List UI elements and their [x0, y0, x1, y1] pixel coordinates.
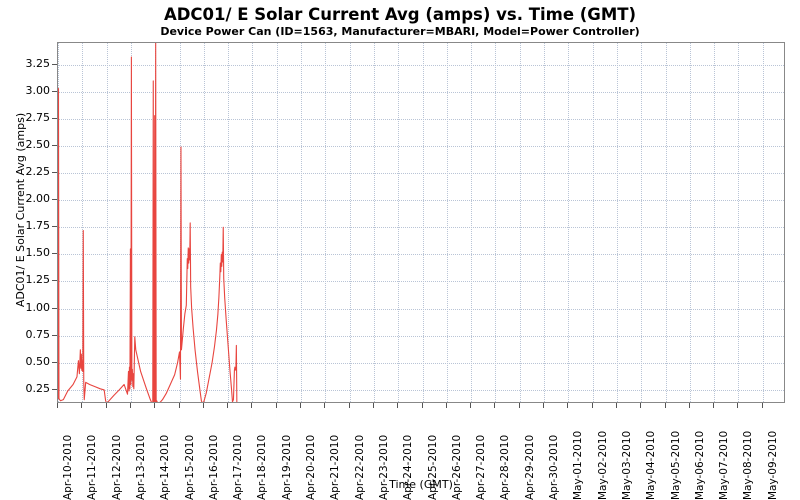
- x-tick-mark: [179, 403, 180, 408]
- x-tick-mark: [130, 403, 131, 408]
- y-tick-label: 2.00: [0, 192, 50, 205]
- x-tick-mark: [665, 403, 666, 408]
- x-tick-label: Apr-27-2010: [464, 412, 477, 500]
- x-tick-label: Apr-15-2010: [173, 412, 186, 500]
- x-tick-mark: [689, 403, 690, 408]
- x-tick-label: May-01-2010: [561, 412, 574, 500]
- x-tick-label: Apr-20-2010: [294, 412, 307, 500]
- x-tick-label: Apr-22-2010: [343, 412, 356, 500]
- x-tick-mark: [227, 403, 228, 408]
- x-tick-label: Apr-30-2010: [537, 412, 550, 500]
- x-tick-mark: [762, 403, 763, 408]
- y-tick-label: 0.75: [0, 328, 50, 341]
- x-tick-label: Apr-18-2010: [245, 412, 258, 500]
- x-tick-mark: [276, 403, 277, 408]
- x-tick-label: Apr-17-2010: [221, 412, 234, 500]
- x-tick-mark: [154, 403, 155, 408]
- x-tick-mark: [519, 403, 520, 408]
- x-tick-label: Apr-25-2010: [416, 412, 429, 500]
- x-tick-label: May-02-2010: [586, 412, 599, 500]
- x-tick-mark: [251, 403, 252, 408]
- x-tick-mark: [57, 403, 58, 408]
- x-tick-label: May-07-2010: [707, 412, 720, 500]
- x-tick-label: Apr-13-2010: [124, 412, 137, 500]
- x-tick-label: Apr-16-2010: [197, 412, 210, 500]
- x-tick-mark: [494, 403, 495, 408]
- y-tick-label: 1.25: [0, 273, 50, 286]
- x-tick-label: Apr-12-2010: [100, 412, 113, 500]
- x-tick-mark: [713, 403, 714, 408]
- x-tick-mark: [373, 403, 374, 408]
- x-tick-label: Apr-11-2010: [75, 412, 88, 500]
- x-tick-mark: [737, 403, 738, 408]
- x-tick-label: Apr-14-2010: [148, 412, 161, 500]
- x-tick-label: Apr-21-2010: [318, 412, 331, 500]
- chart-screenshot: ADC01/ E Solar Current Avg (amps) vs. Ti…: [0, 0, 800, 500]
- y-tick-label: 2.25: [0, 165, 50, 178]
- x-tick-label: May-05-2010: [659, 412, 672, 500]
- y-tick-label: 1.00: [0, 301, 50, 314]
- x-tick-mark: [640, 403, 641, 408]
- x-tick-mark: [543, 403, 544, 408]
- y-tick-label: 1.75: [0, 219, 50, 232]
- x-tick-mark: [397, 403, 398, 408]
- x-tick-label: Apr-29-2010: [513, 412, 526, 500]
- x-tick-label: May-06-2010: [683, 412, 696, 500]
- x-tick-mark: [349, 403, 350, 408]
- x-tick-mark: [422, 403, 423, 408]
- x-tick-label: Apr-28-2010: [488, 412, 501, 500]
- x-tick-label: May-03-2010: [610, 412, 623, 500]
- x-tick-mark: [203, 403, 204, 408]
- y-tick-label: 3.00: [0, 84, 50, 97]
- y-tick-label: 2.50: [0, 138, 50, 151]
- x-tick-label: Apr-23-2010: [367, 412, 380, 500]
- x-tick-mark: [616, 403, 617, 408]
- x-tick-mark: [592, 403, 593, 408]
- x-tick-mark: [300, 403, 301, 408]
- y-tick-label: 0.50: [0, 355, 50, 368]
- x-tick-mark: [324, 403, 325, 408]
- x-tick-label: May-09-2010: [756, 412, 769, 500]
- y-tick-label: 0.25: [0, 382, 50, 395]
- y-tick-label: 2.75: [0, 111, 50, 124]
- y-tick-label: 1.50: [0, 246, 50, 259]
- y-tick-label: 3.25: [0, 57, 50, 70]
- x-tick-mark: [106, 403, 107, 408]
- x-tick-mark: [81, 403, 82, 408]
- x-tick-label: Apr-10-2010: [51, 412, 64, 500]
- x-tick-mark: [446, 403, 447, 408]
- x-tick-label: Apr-26-2010: [440, 412, 453, 500]
- x-tick-mark: [567, 403, 568, 408]
- x-tick-label: May-08-2010: [731, 412, 744, 500]
- x-tick-mark: [470, 403, 471, 408]
- x-tick-label: Apr-24-2010: [391, 412, 404, 500]
- x-tick-label: May-04-2010: [634, 412, 647, 500]
- x-tick-label: Apr-19-2010: [270, 412, 283, 500]
